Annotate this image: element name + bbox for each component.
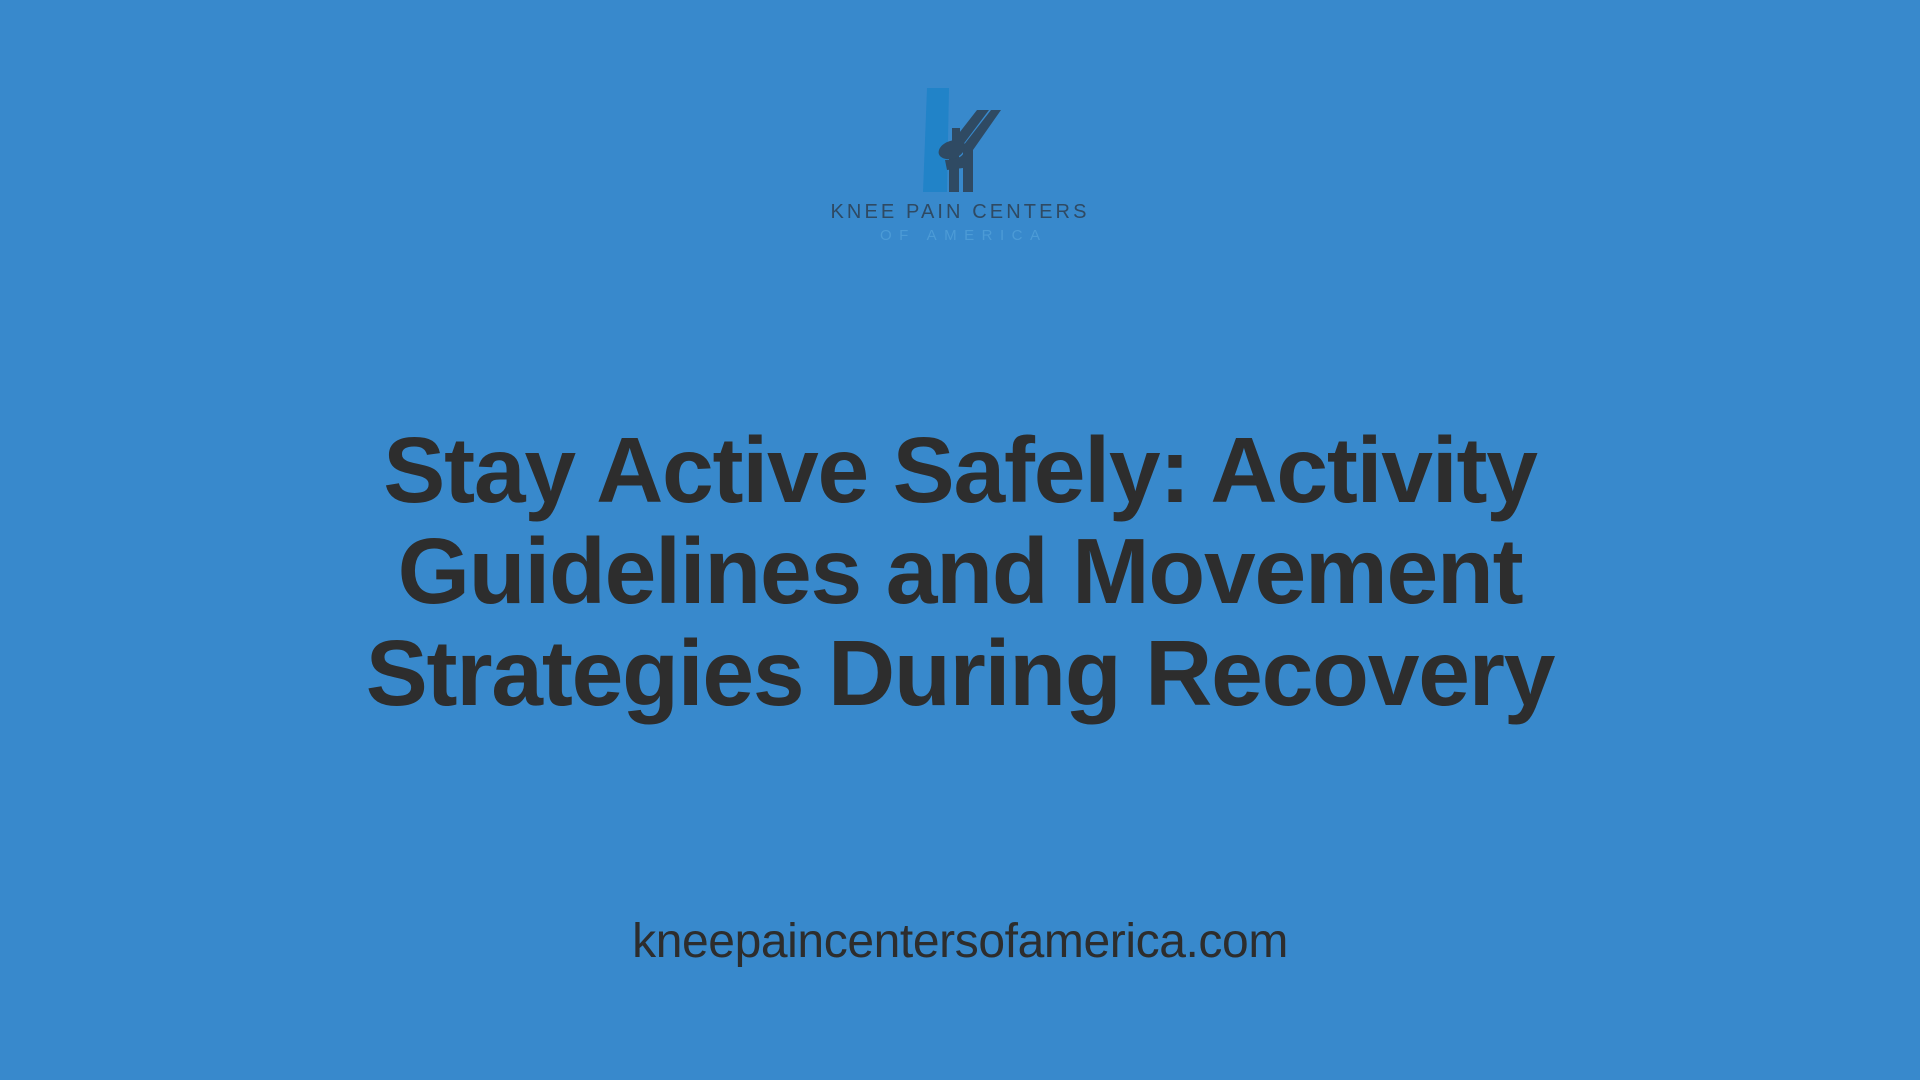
brand-subwordmark: OF AMERICA	[872, 228, 1047, 243]
brand-logo: KNEE PAIN CENTERS OF AMERICA	[810, 88, 1110, 243]
site-url: kneepaincentersofamerica.com	[632, 914, 1288, 969]
brand-wordmark: KNEE PAIN CENTERS	[830, 202, 1089, 222]
knee-joint-k-monogram-icon	[919, 88, 1001, 192]
page-title: Stay Active Safely: Activity Guidelines …	[290, 420, 1630, 724]
title-card: KNEE PAIN CENTERS OF AMERICA Stay Active…	[0, 0, 1920, 1080]
